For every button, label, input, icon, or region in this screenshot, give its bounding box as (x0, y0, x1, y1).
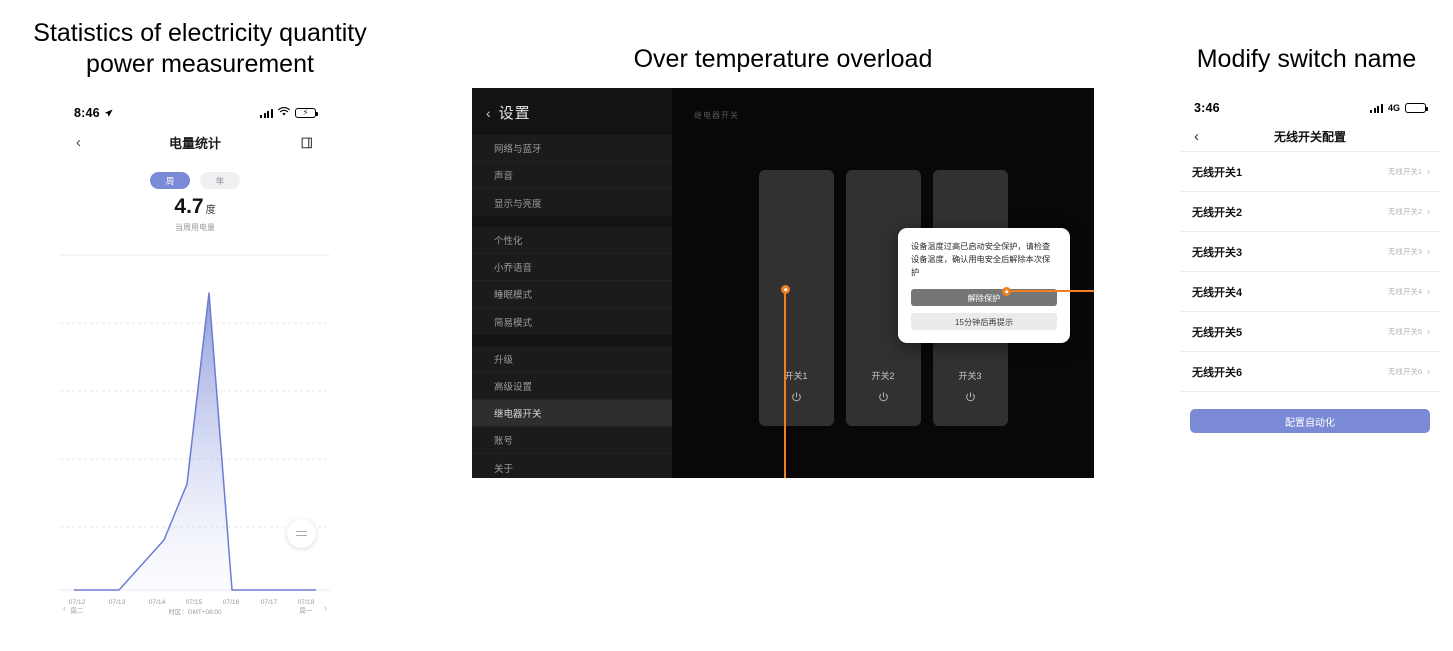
sidebar-item-about[interactable]: 关于 (472, 454, 672, 478)
configure-automation-button[interactable]: 配置自动化 (1190, 409, 1430, 433)
chart-list-button[interactable] (287, 519, 316, 548)
sidebar-item-voice[interactable]: 小乔语音 (472, 254, 672, 281)
sidebar-group-2: 个性化 小乔语音 睡眠模式 简易模式 (472, 227, 672, 335)
caption-energy-line1: Statistics of electricity quantity (20, 18, 380, 49)
list-item-value: 无线开关4 (1388, 286, 1422, 297)
energy-chart[interactable] (60, 246, 330, 598)
annotation-line-horizontal (1008, 290, 1094, 292)
status-time: 3:46 (1194, 101, 1220, 115)
power-icon[interactable] (877, 391, 890, 404)
caption-energy: Statistics of electricity quantity power… (20, 18, 380, 80)
status-bar-right: ⚡ (260, 104, 316, 122)
timezone-label: 时区：GMT+08:00 (60, 607, 330, 616)
list-item-value: 无线开关5 (1388, 326, 1422, 337)
period-toggle[interactable]: 周 年 (60, 172, 330, 189)
list-item[interactable]: 无线开关3 无线开关3 › (1180, 232, 1440, 272)
chevron-right-icon: › (1427, 367, 1430, 376)
status-bar: 8:46 ⚡ (60, 100, 330, 126)
list-item-label: 无线开关4 (1192, 284, 1242, 300)
list-menu-icon-line2 (296, 535, 307, 537)
energy-statistics-phone: 8:46 ⚡ ‹ 电量统计 (60, 100, 330, 645)
list-menu-icon (296, 531, 307, 533)
cellular-bars-icon (1370, 103, 1383, 113)
chevron-right-icon: › (1427, 287, 1430, 296)
battery-charging-icon: ⚡ (295, 108, 316, 119)
energy-value-number: 4.7 (174, 195, 203, 218)
status-bar-right: 4G (1370, 103, 1426, 114)
axis-tick: 07/15 (177, 598, 211, 607)
sidebar-item-account[interactable]: 账号 (472, 427, 672, 454)
status-bar-left: 8:46 (74, 106, 113, 120)
list-item-value: 无线开关1 (1388, 166, 1422, 177)
switch-card-label: 开关1 (784, 369, 807, 382)
axis-tick-date: 07/12 (60, 598, 94, 607)
nav-bar: ‹ 无线开关配置 (1180, 121, 1440, 151)
page-title: 无线开关配置 (1180, 128, 1440, 145)
sidebar-item-sound[interactable]: 声音 (472, 162, 672, 189)
sidebar-group-1: 网络与蓝牙 声音 显示与亮度 (472, 135, 672, 216)
annotation-dot-release-protection (781, 285, 790, 294)
list-item-right: 无线开关5 › (1388, 326, 1430, 337)
back-icon[interactable]: ‹ (76, 135, 81, 150)
power-icon[interactable] (964, 391, 977, 404)
back-icon[interactable]: ‹ (486, 106, 491, 120)
list-item[interactable]: 无线开关4 无线开关4 › (1180, 272, 1440, 312)
location-arrow-icon (104, 109, 113, 118)
content-title: 继电器开关 (694, 110, 739, 121)
axis-tick: 07/13 (100, 598, 134, 607)
wireless-switch-config-phone: 3:46 4G ‹ 无线开关配置 无线开关1 无线开关1 › 无线开关2 无线开… (1180, 95, 1440, 445)
caption-energy-line2: power measurement (20, 49, 380, 80)
sidebar-item-simple-mode[interactable]: 简易模式 (472, 308, 672, 335)
energy-value-unit: 度 (206, 205, 216, 216)
calendar-export-icon[interactable] (300, 135, 314, 150)
wifi-icon (278, 104, 290, 122)
list-item-value: 无线开关2 (1388, 206, 1422, 217)
axis-tick: 07/14 (140, 598, 174, 607)
list-item-label: 无线开关6 (1192, 364, 1242, 380)
sidebar-item-advanced[interactable]: 高级设置 (472, 373, 672, 400)
switch-card-label: 开关2 (871, 369, 894, 382)
battery-icon (1405, 103, 1426, 114)
power-icon[interactable] (790, 391, 803, 404)
nav-bar: ‹ 电量统计 (60, 126, 330, 158)
list-item[interactable]: 无线开关2 无线开关2 › (1180, 192, 1440, 232)
sidebar-header: ‹ 设置 (472, 88, 672, 135)
list-item-right: 无线开关6 › (1388, 366, 1430, 377)
wireless-switch-list: 无线开关1 无线开关1 › 无线开关2 无线开关2 › 无线开关3 无线开关3 … (1180, 151, 1440, 392)
list-item-right: 无线开关1 › (1388, 166, 1430, 177)
sidebar-item-network[interactable]: 网络与蓝牙 (472, 135, 672, 162)
chart-area-fill (74, 293, 316, 590)
sidebar-item-sleep-mode[interactable]: 睡眠模式 (472, 281, 672, 308)
list-item-right: 无线开关2 › (1388, 206, 1430, 217)
chevron-right-icon: › (1427, 247, 1430, 256)
annotation-line-vertical (784, 292, 786, 478)
cellular-bars-icon (260, 108, 273, 118)
period-week-button[interactable]: 周 (150, 172, 190, 189)
page-title: 电量统计 (60, 133, 330, 152)
relay-content: 继电器开关 开关1 开关2 (672, 88, 1094, 478)
caption-switch-name: Modify switch name (1160, 44, 1453, 75)
status-time: 8:46 (74, 106, 100, 120)
settings-sidebar: ‹ 设置 网络与蓝牙 声音 显示与亮度 个性化 小乔语音 睡眠模式 简易模式 升… (472, 88, 672, 478)
status-bar: 3:46 4G (1180, 95, 1440, 121)
list-item-label: 无线开关1 (1192, 164, 1242, 180)
chevron-right-icon: › (1427, 327, 1430, 336)
list-item[interactable]: 无线开关1 无线开关1 › (1180, 152, 1440, 192)
list-item[interactable]: 无线开关5 无线开关5 › (1180, 312, 1440, 352)
chart-x-axis: ‹ 07/12 周二 07/13 07/14 07/15 07/16 07/17… (60, 596, 330, 630)
energy-chart-svg (60, 246, 330, 598)
over-temperature-dialog: 设备温度过高已启动安全保护，请检查设备温度，确认用电安全后解除本次保护 解除保护… (898, 228, 1070, 343)
relay-settings-tablet: ‹ 设置 网络与蓝牙 声音 显示与亮度 个性化 小乔语音 睡眠模式 简易模式 升… (472, 88, 1094, 478)
dialog-message: 设备温度过高已启动安全保护，请检查设备温度，确认用电安全后解除本次保护 (911, 240, 1057, 279)
axis-tick: 07/16 (214, 598, 248, 607)
list-item[interactable]: 无线开关6 无线开关6 › (1180, 352, 1440, 392)
sidebar-item-relay-switch[interactable]: 继电器开关 (472, 400, 672, 427)
list-item-value: 无线开关6 (1388, 366, 1422, 377)
sidebar-title: 设置 (499, 102, 531, 123)
list-item-right: 无线开关4 › (1388, 286, 1430, 297)
energy-value: 4.7度 (60, 196, 330, 217)
axis-tick: 07/17 (252, 598, 286, 607)
status-bar-left: 3:46 (1194, 101, 1220, 115)
list-item-label: 无线开关2 (1192, 204, 1242, 220)
period-year-button[interactable]: 年 (200, 172, 240, 189)
sidebar-item-upgrade[interactable]: 升级 (472, 346, 672, 373)
caption-relay: Over temperature overload (483, 44, 1083, 75)
list-item-value: 无线开关3 (1388, 246, 1422, 257)
list-item-label: 无线开关5 (1192, 324, 1242, 340)
switch-card[interactable]: 开关1 (759, 170, 834, 426)
network-type-label: 4G (1388, 103, 1400, 113)
sidebar-item-personalize[interactable]: 个性化 (472, 227, 672, 254)
list-item-right: 无线开关3 › (1388, 246, 1430, 257)
chevron-right-icon: › (1427, 167, 1430, 176)
annotation-dot-switch-3 (1002, 287, 1011, 296)
remind-later-button[interactable]: 15分钟后再提示 (911, 313, 1057, 330)
chevron-right-icon: › (1427, 207, 1430, 216)
energy-value-label: 当周用电量 (60, 222, 330, 233)
sidebar-group-3: 升级 高级设置 继电器开关 账号 关于 (472, 346, 672, 478)
sidebar-item-display[interactable]: 显示与亮度 (472, 189, 672, 216)
switch-card-label: 开关3 (958, 369, 981, 382)
list-item-label: 无线开关3 (1192, 244, 1242, 260)
